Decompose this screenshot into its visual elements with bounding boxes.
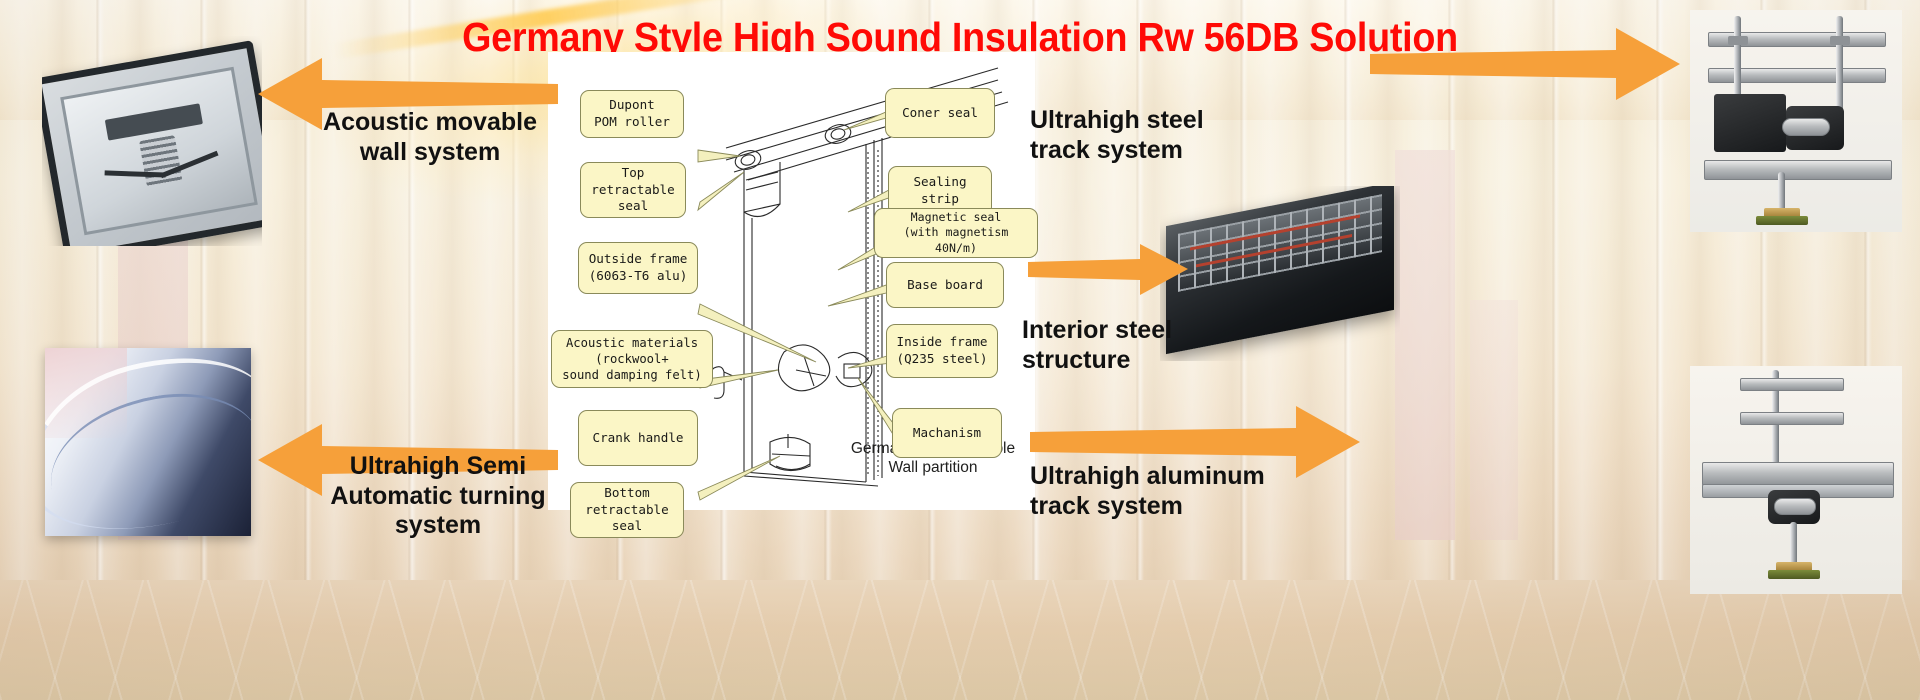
photo-turning-system xyxy=(45,348,251,536)
panel-mechanism-block xyxy=(105,103,202,141)
steel-track-roller xyxy=(1782,118,1830,136)
alu-track-bracket-mid xyxy=(1740,412,1844,425)
alu-track-bracket-top xyxy=(1740,378,1844,391)
alu-track-threaded-rod xyxy=(1790,522,1797,566)
feature-ultrahigh-aluminum-track-system: Ultrahigh aluminum track system xyxy=(1030,462,1360,521)
callout-outside-frame: Outside frame (6063-T6 alu) xyxy=(578,242,698,294)
callout-top-retractable-seal: Top retractable seal xyxy=(580,162,686,218)
callout-inside-frame: Inside frame (Q235 steel) xyxy=(886,324,998,378)
steel-track-nut-right xyxy=(1830,36,1850,45)
callout-machanism: Machanism xyxy=(892,408,1002,458)
callout-base-board: Base board xyxy=(886,262,1004,308)
photo-aluminum-track xyxy=(1690,366,1902,594)
callout-dupont-pom-roller: Dupont POM roller xyxy=(580,90,684,138)
photo-acoustic-movable-wall xyxy=(42,36,262,246)
diagram-panel: Dupont POM roller Top retractable seal O… xyxy=(548,52,1035,510)
steel-track-threaded-rod xyxy=(1778,172,1785,212)
panel-arm-left xyxy=(105,170,166,177)
feature-ultrahigh-semi-automatic-turning-system: Ultrahigh Semi Automatic turning system xyxy=(288,452,588,541)
steel-track-green-base xyxy=(1756,216,1808,225)
feature-acoustic-movable-wall-system: Acoustic movable wall system xyxy=(300,108,560,167)
arrow-right-middle xyxy=(1028,240,1188,298)
callout-acoustic-materials: Acoustic materials (rockwool+ sound damp… xyxy=(551,330,713,388)
panel-spring xyxy=(139,135,182,187)
panel-frame-body xyxy=(42,40,262,246)
steel-track-nut-left xyxy=(1728,36,1748,45)
alu-track-rail-main xyxy=(1702,462,1894,486)
arrow-right-top xyxy=(1370,22,1680,106)
callout-coner-seal: Coner seal xyxy=(885,88,995,138)
callout-magnetic-seal: Magnetic seal (with magnetism 40N/m) xyxy=(874,208,1038,258)
alu-track-green-base xyxy=(1768,570,1820,579)
feature-interior-steel-structure: Interior steel structure xyxy=(1022,316,1312,375)
steel-track-base-rail xyxy=(1704,160,1892,180)
alu-track-roller xyxy=(1774,498,1816,515)
steel-track-carrier-block xyxy=(1714,94,1786,152)
feature-ultrahigh-steel-track-system: Ultrahigh steel track system xyxy=(1030,106,1330,165)
panel-frame-inner xyxy=(60,67,258,235)
infographic-root: Germany Style High Sound Insulation Rw 5… xyxy=(0,0,1920,700)
photo-steel-track-top xyxy=(1690,10,1902,232)
callout-crank-handle: Crank handle xyxy=(578,410,698,466)
